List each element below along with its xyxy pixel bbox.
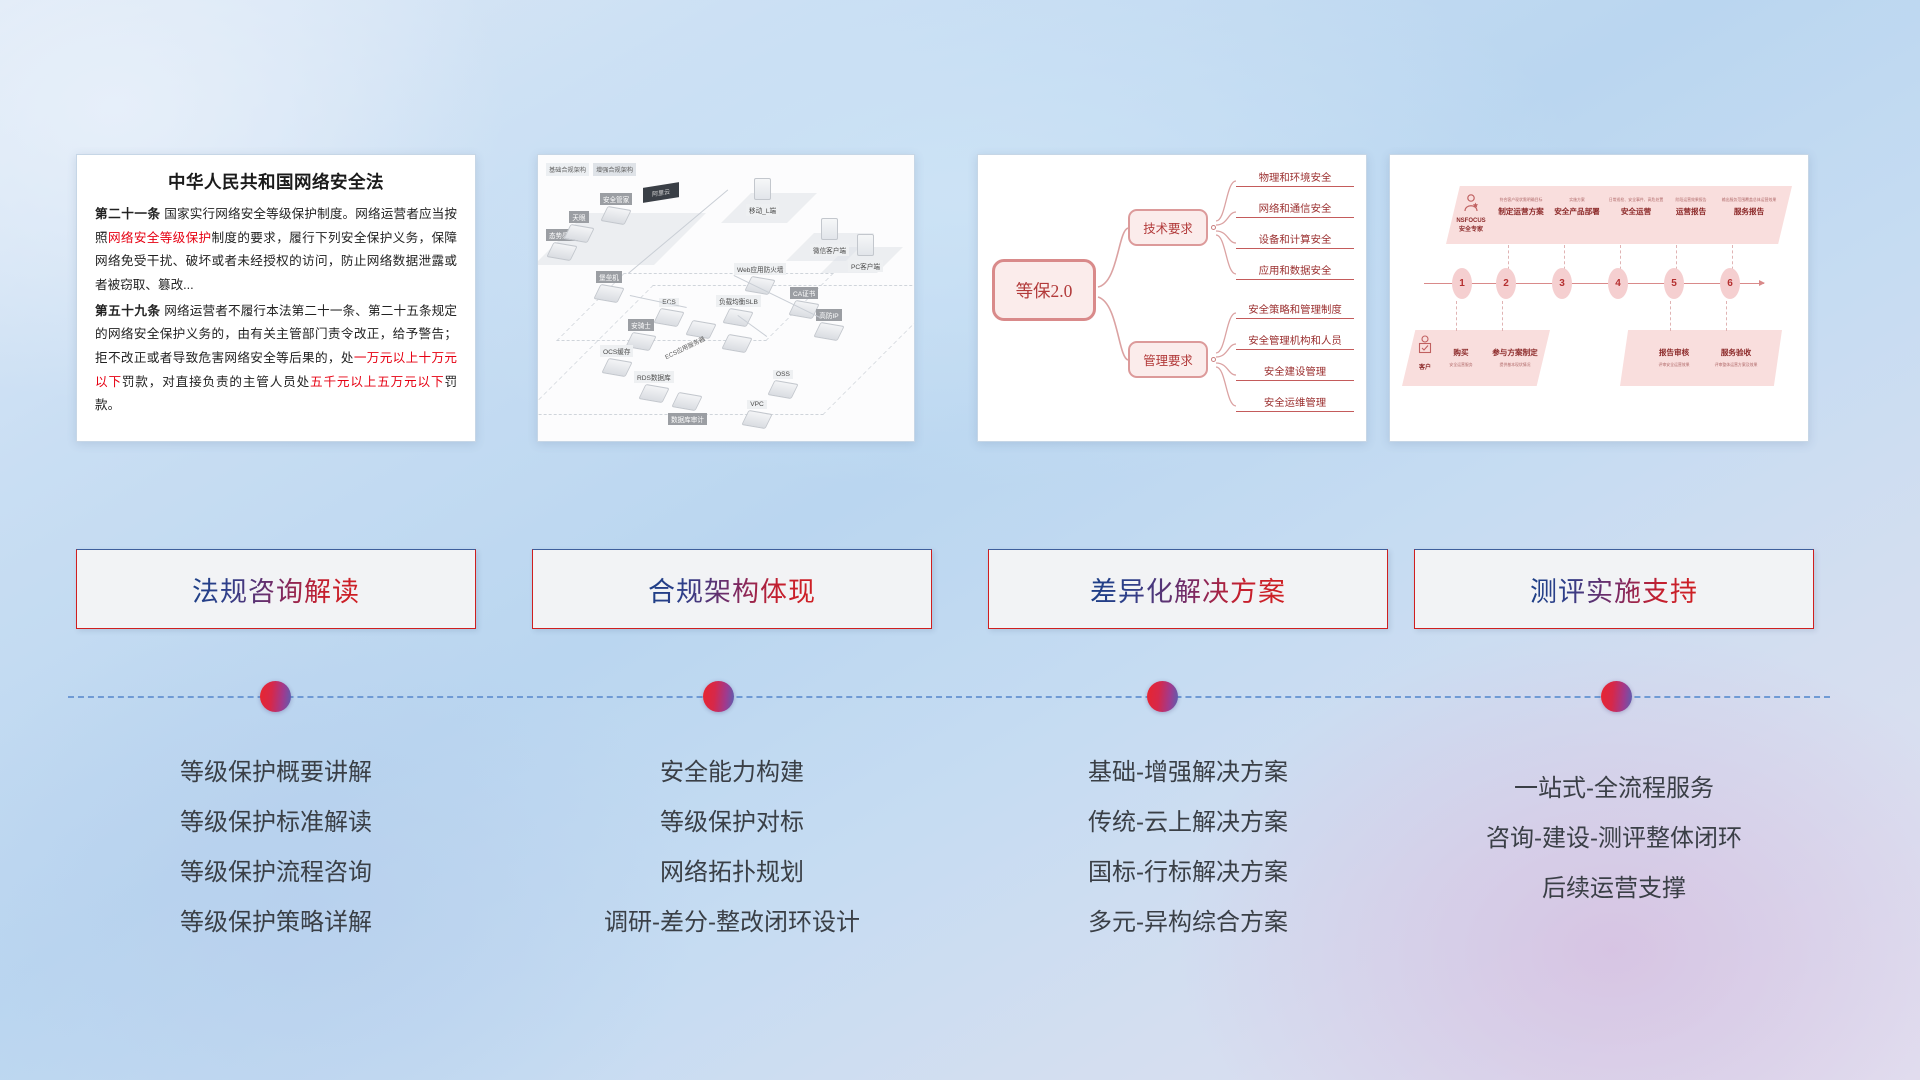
list-item: 基础-增强解决方案	[988, 748, 1388, 798]
label-box-regulation-consulting[interactable]: 法规咨询解读	[76, 549, 476, 629]
timeline-dot-3	[1147, 681, 1178, 712]
timeline-dot-1	[260, 681, 291, 712]
list-item: 国标-行标解决方案	[988, 848, 1388, 898]
list-item: 安全能力构建	[532, 748, 932, 798]
list-item: 等级保护对标	[532, 798, 932, 848]
list-item: 网络拓扑规划	[532, 848, 932, 898]
list-column-differentiated-solution: 基础-增强解决方案 传统-云上解决方案 国标-行标解决方案 多元-异构综合方案	[988, 748, 1388, 948]
label-box-text: 法规咨询解读	[192, 570, 360, 609]
timeline-dot-4	[1601, 681, 1632, 712]
list-item: 传统-云上解决方案	[988, 798, 1388, 848]
label-box-text: 合规架构体现	[648, 570, 816, 609]
list-column-regulation-consulting: 等级保护概要讲解 等级保护标准解读 等级保护流程咨询 等级保护策略详解	[76, 748, 476, 948]
list-item: 调研-差分-整改闭环设计	[532, 898, 932, 948]
label-box-compliance-architecture[interactable]: 合规架构体现	[532, 549, 932, 629]
timeline-dashed-line	[68, 696, 1830, 698]
list-item: 后续运营支撑	[1414, 864, 1814, 914]
timeline-dot-2	[703, 681, 734, 712]
label-box-text: 差异化解决方案	[1090, 570, 1286, 609]
list-item: 咨询-建设-测评整体闭环	[1414, 814, 1814, 864]
label-box-differentiated-solution[interactable]: 差异化解决方案	[988, 549, 1388, 629]
list-item: 等级保护流程咨询	[76, 848, 476, 898]
list-column-evaluation-support: 一站式-全流程服务 咨询-建设-测评整体闭环 后续运营支撑	[1414, 764, 1814, 914]
list-item: 等级保护标准解读	[76, 798, 476, 848]
label-box-evaluation-support[interactable]: 测评实施支持	[1414, 549, 1814, 629]
list-item: 一站式-全流程服务	[1414, 764, 1814, 814]
list-item: 等级保护概要讲解	[76, 748, 476, 798]
list-item: 等级保护策略详解	[76, 898, 476, 948]
list-column-compliance-architecture: 安全能力构建 等级保护对标 网络拓扑规划 调研-差分-整改闭环设计	[532, 748, 932, 948]
list-item: 多元-异构综合方案	[988, 898, 1388, 948]
label-box-text: 测评实施支持	[1530, 570, 1698, 609]
